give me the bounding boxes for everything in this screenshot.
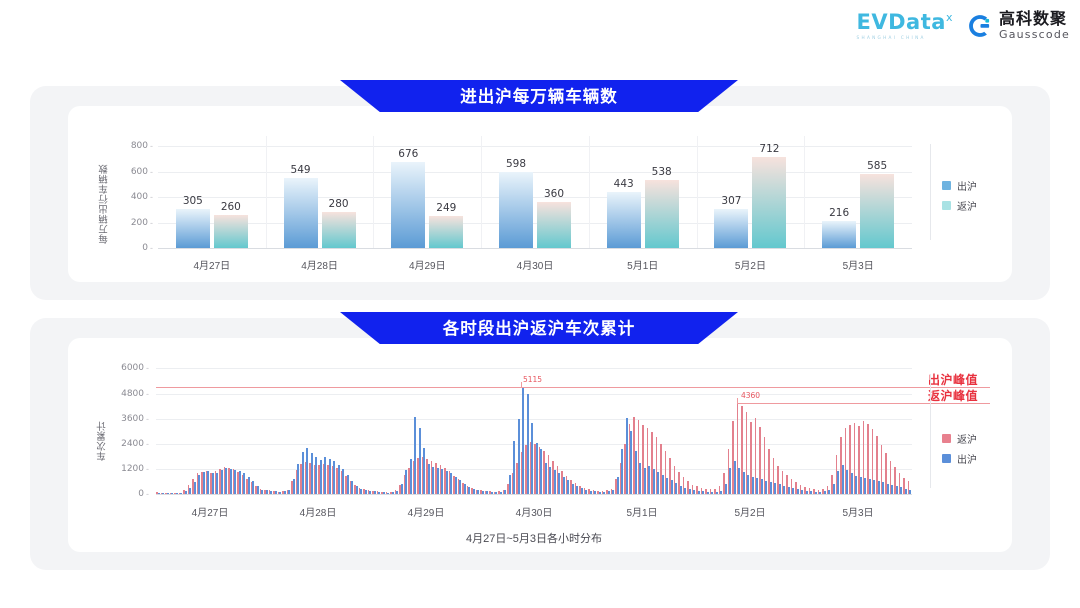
chart2-peak-value-fanhu: 4360 xyxy=(741,391,760,400)
chart2-y-tick-dash: - xyxy=(146,414,149,424)
chart1-legend-item-返沪[interactable]: 返沪 xyxy=(942,198,977,213)
chart2-y-axis-label: 车次累计 xyxy=(96,393,110,461)
chart1-x-tick: 4月27日 xyxy=(194,257,231,272)
chart1-bar-value: 216 xyxy=(829,207,849,219)
chart1-bar-value: 260 xyxy=(221,201,241,213)
chart2-legend-item-返沪[interactable]: 返沪 xyxy=(942,431,977,446)
chart1-bar-出沪 xyxy=(714,209,748,248)
chart1-gridline xyxy=(158,223,912,224)
chart2-x-tick: 4月30日 xyxy=(516,504,553,519)
chart1-bar-value: 676 xyxy=(398,148,418,160)
chart1-y-tick-dash: - xyxy=(150,218,153,228)
chart2-y-tick-dash: - xyxy=(146,363,149,373)
chart1-y-tick: 200 xyxy=(108,218,148,228)
chart2-y-tick: 3600 xyxy=(104,414,144,424)
chart1-legend-label: 返沪 xyxy=(957,198,977,213)
chart1-bar-返沪 xyxy=(645,180,679,248)
chart1-x-tick: 4月30日 xyxy=(517,257,554,272)
chart1-y-tick: 0 xyxy=(108,243,148,253)
chart2-x-axis-line xyxy=(156,494,912,495)
chart2-legend-divider xyxy=(930,374,931,488)
chart2-y-tick: 4800 xyxy=(104,389,144,399)
chart1-legend: 出沪返沪 xyxy=(942,178,977,213)
chart2-legend-label: 出沪 xyxy=(957,451,977,466)
chart1-title-banner: 进出沪每万辆车辆数 xyxy=(340,80,738,112)
chart1-bar-返沪 xyxy=(214,215,248,248)
chart1-gridline xyxy=(158,172,912,173)
chart2-legend: 返沪出沪 xyxy=(942,431,977,466)
gausscode-text: 高科数聚 Gausscode xyxy=(999,12,1070,40)
chart1-bar-value: 538 xyxy=(652,166,672,178)
chart2-peak-label-chuhu: 出沪峰值 xyxy=(928,371,978,388)
chart1-bar-出沪 xyxy=(822,221,856,248)
chart2-legend-swatch xyxy=(942,454,951,463)
chart2-title: 各时段出沪返沪车次累计 xyxy=(443,315,636,339)
chart1-bar-value: 712 xyxy=(759,143,779,155)
chart2-legend-item-出沪[interactable]: 出沪 xyxy=(942,451,977,466)
chart2-bar-出沪 xyxy=(909,490,911,494)
chart2-plot: 车次累计0-1200-2400-3600-4800-6000-4月27日4月28… xyxy=(68,338,1012,552)
chart1-title: 进出沪每万辆车辆数 xyxy=(460,83,618,107)
chart1-bar-出沪 xyxy=(607,192,641,248)
chart2-peak-value-chuhu: 5115 xyxy=(523,375,542,384)
chart1-x-tick: 5月3日 xyxy=(843,257,874,272)
chart1-bar-返沪 xyxy=(537,202,571,248)
chart2-y-tick-dash: - xyxy=(146,439,149,449)
chart2-y-tick-dash: - xyxy=(146,489,149,499)
chart2-y-tick-dash: - xyxy=(146,389,149,399)
chart2-legend-swatch xyxy=(942,434,951,443)
page-root: EVDatax SHANGHAI CHINA 高科数聚 Gausscode 进出… xyxy=(0,0,1080,608)
gausscode-cn: 高科数聚 xyxy=(999,12,1070,29)
chart2-y-tick: 2400 xyxy=(104,439,144,449)
chart2-gridline xyxy=(156,394,912,395)
chart1-category-divider xyxy=(373,136,374,248)
chart1-category-divider xyxy=(266,136,267,248)
chart1-category-divider xyxy=(697,136,698,248)
chart2-title-banner: 各时段出沪返沪车次累计 xyxy=(340,312,738,344)
chart1-legend-divider xyxy=(930,144,931,240)
chart1-y-tick-dash: - xyxy=(150,167,153,177)
evdata-tagline: SHANGHAI CHINA xyxy=(857,35,926,40)
chart1-bar-返沪 xyxy=(860,174,894,248)
chart1-y-tick-dash: - xyxy=(150,141,153,151)
chart1-legend-item-出沪[interactable]: 出沪 xyxy=(942,178,977,193)
chart2-y-tick: 0 xyxy=(104,489,144,499)
chart1-bar-返沪 xyxy=(752,157,786,248)
chart1-y-tick: 800 xyxy=(108,141,148,151)
chart1-plot: 每万辆出行车辆数0-200-400-600-800-3052604月27日549… xyxy=(68,106,1012,282)
chart2-legend-label: 返沪 xyxy=(957,431,977,446)
chart1-bar-value: 549 xyxy=(291,164,311,176)
chart1-y-tick-dash: - xyxy=(150,192,153,202)
chart1-bar-出沪 xyxy=(499,172,533,248)
chart2-x-tick: 5月1日 xyxy=(626,504,657,519)
chart1-bar-出沪 xyxy=(284,178,318,248)
chart2-y-tick: 1200 xyxy=(104,464,144,474)
chart1-bar-value: 585 xyxy=(867,160,887,172)
chart1-category-divider xyxy=(481,136,482,248)
chart2-caption: 4月27日~5月3日各小时分布 xyxy=(466,530,602,546)
chart2-x-tick: 5月3日 xyxy=(842,504,873,519)
chart1-legend-label: 出沪 xyxy=(957,178,977,193)
brand-logo-bar: EVDatax SHANGHAI CHINA 高科数聚 Gausscode xyxy=(857,12,1070,40)
chart2-gridline xyxy=(156,419,912,420)
evdata-wordmark: EVDatax xyxy=(857,12,953,33)
chart1-bar-value: 305 xyxy=(183,195,203,207)
chart1-category-divider xyxy=(804,136,805,248)
evdata-x-icon: x xyxy=(946,11,953,24)
chart2-y-tick-dash: - xyxy=(146,464,149,474)
chart1-x-axis-line xyxy=(158,248,912,249)
evdata-logo: EVDatax SHANGHAI CHINA xyxy=(857,12,953,40)
chart1-y-tick-dash: - xyxy=(150,243,153,253)
gausscode-logo: 高科数聚 Gausscode xyxy=(967,12,1070,40)
chart1-category-divider xyxy=(589,136,590,248)
chart1-gridline xyxy=(158,146,912,147)
gausscode-en: Gausscode xyxy=(999,29,1070,41)
chart2-peak-tick-fanhu xyxy=(737,398,738,403)
chart1-x-tick: 5月1日 xyxy=(627,257,658,272)
chart2-peak-line-chuhu xyxy=(156,387,990,388)
chart1-bar-返沪 xyxy=(429,216,463,248)
chart1-bar-返沪 xyxy=(322,212,356,248)
chart1-x-tick: 5月2日 xyxy=(735,257,766,272)
chart1-bar-value: 249 xyxy=(436,202,456,214)
chart1-bar-value: 360 xyxy=(544,188,564,200)
chart1-bar-value: 598 xyxy=(506,158,526,170)
chart1-bar-出沪 xyxy=(391,162,425,248)
chart2-gridline xyxy=(156,368,912,369)
chart1-bar-value: 443 xyxy=(614,178,634,190)
chart1-bar-出沪 xyxy=(176,209,210,248)
evdata-text: EVData xyxy=(857,10,946,34)
chart1-x-tick: 4月29日 xyxy=(409,257,446,272)
chart2-x-tick: 4月28日 xyxy=(300,504,337,519)
chart1-bar-value: 280 xyxy=(329,198,349,210)
gauss-g-icon xyxy=(967,13,993,39)
chart1-legend-swatch xyxy=(942,201,951,210)
chart2-y-tick: 6000 xyxy=(104,363,144,373)
chart2-peak-label-fanhu: 返沪峰值 xyxy=(928,387,978,404)
chart2-peak-tick-chuhu xyxy=(521,382,522,387)
chart1-bar-value: 307 xyxy=(721,195,741,207)
chart2-x-tick: 4月27日 xyxy=(192,504,229,519)
chart1-gridline xyxy=(158,197,912,198)
chart1-legend-swatch xyxy=(942,181,951,190)
chart1-y-tick: 400 xyxy=(108,192,148,202)
chart2-x-tick: 4月29日 xyxy=(408,504,445,519)
chart1-x-tick: 4月28日 xyxy=(301,257,338,272)
chart2-x-tick: 5月2日 xyxy=(734,504,765,519)
chart1-y-tick: 600 xyxy=(108,167,148,177)
